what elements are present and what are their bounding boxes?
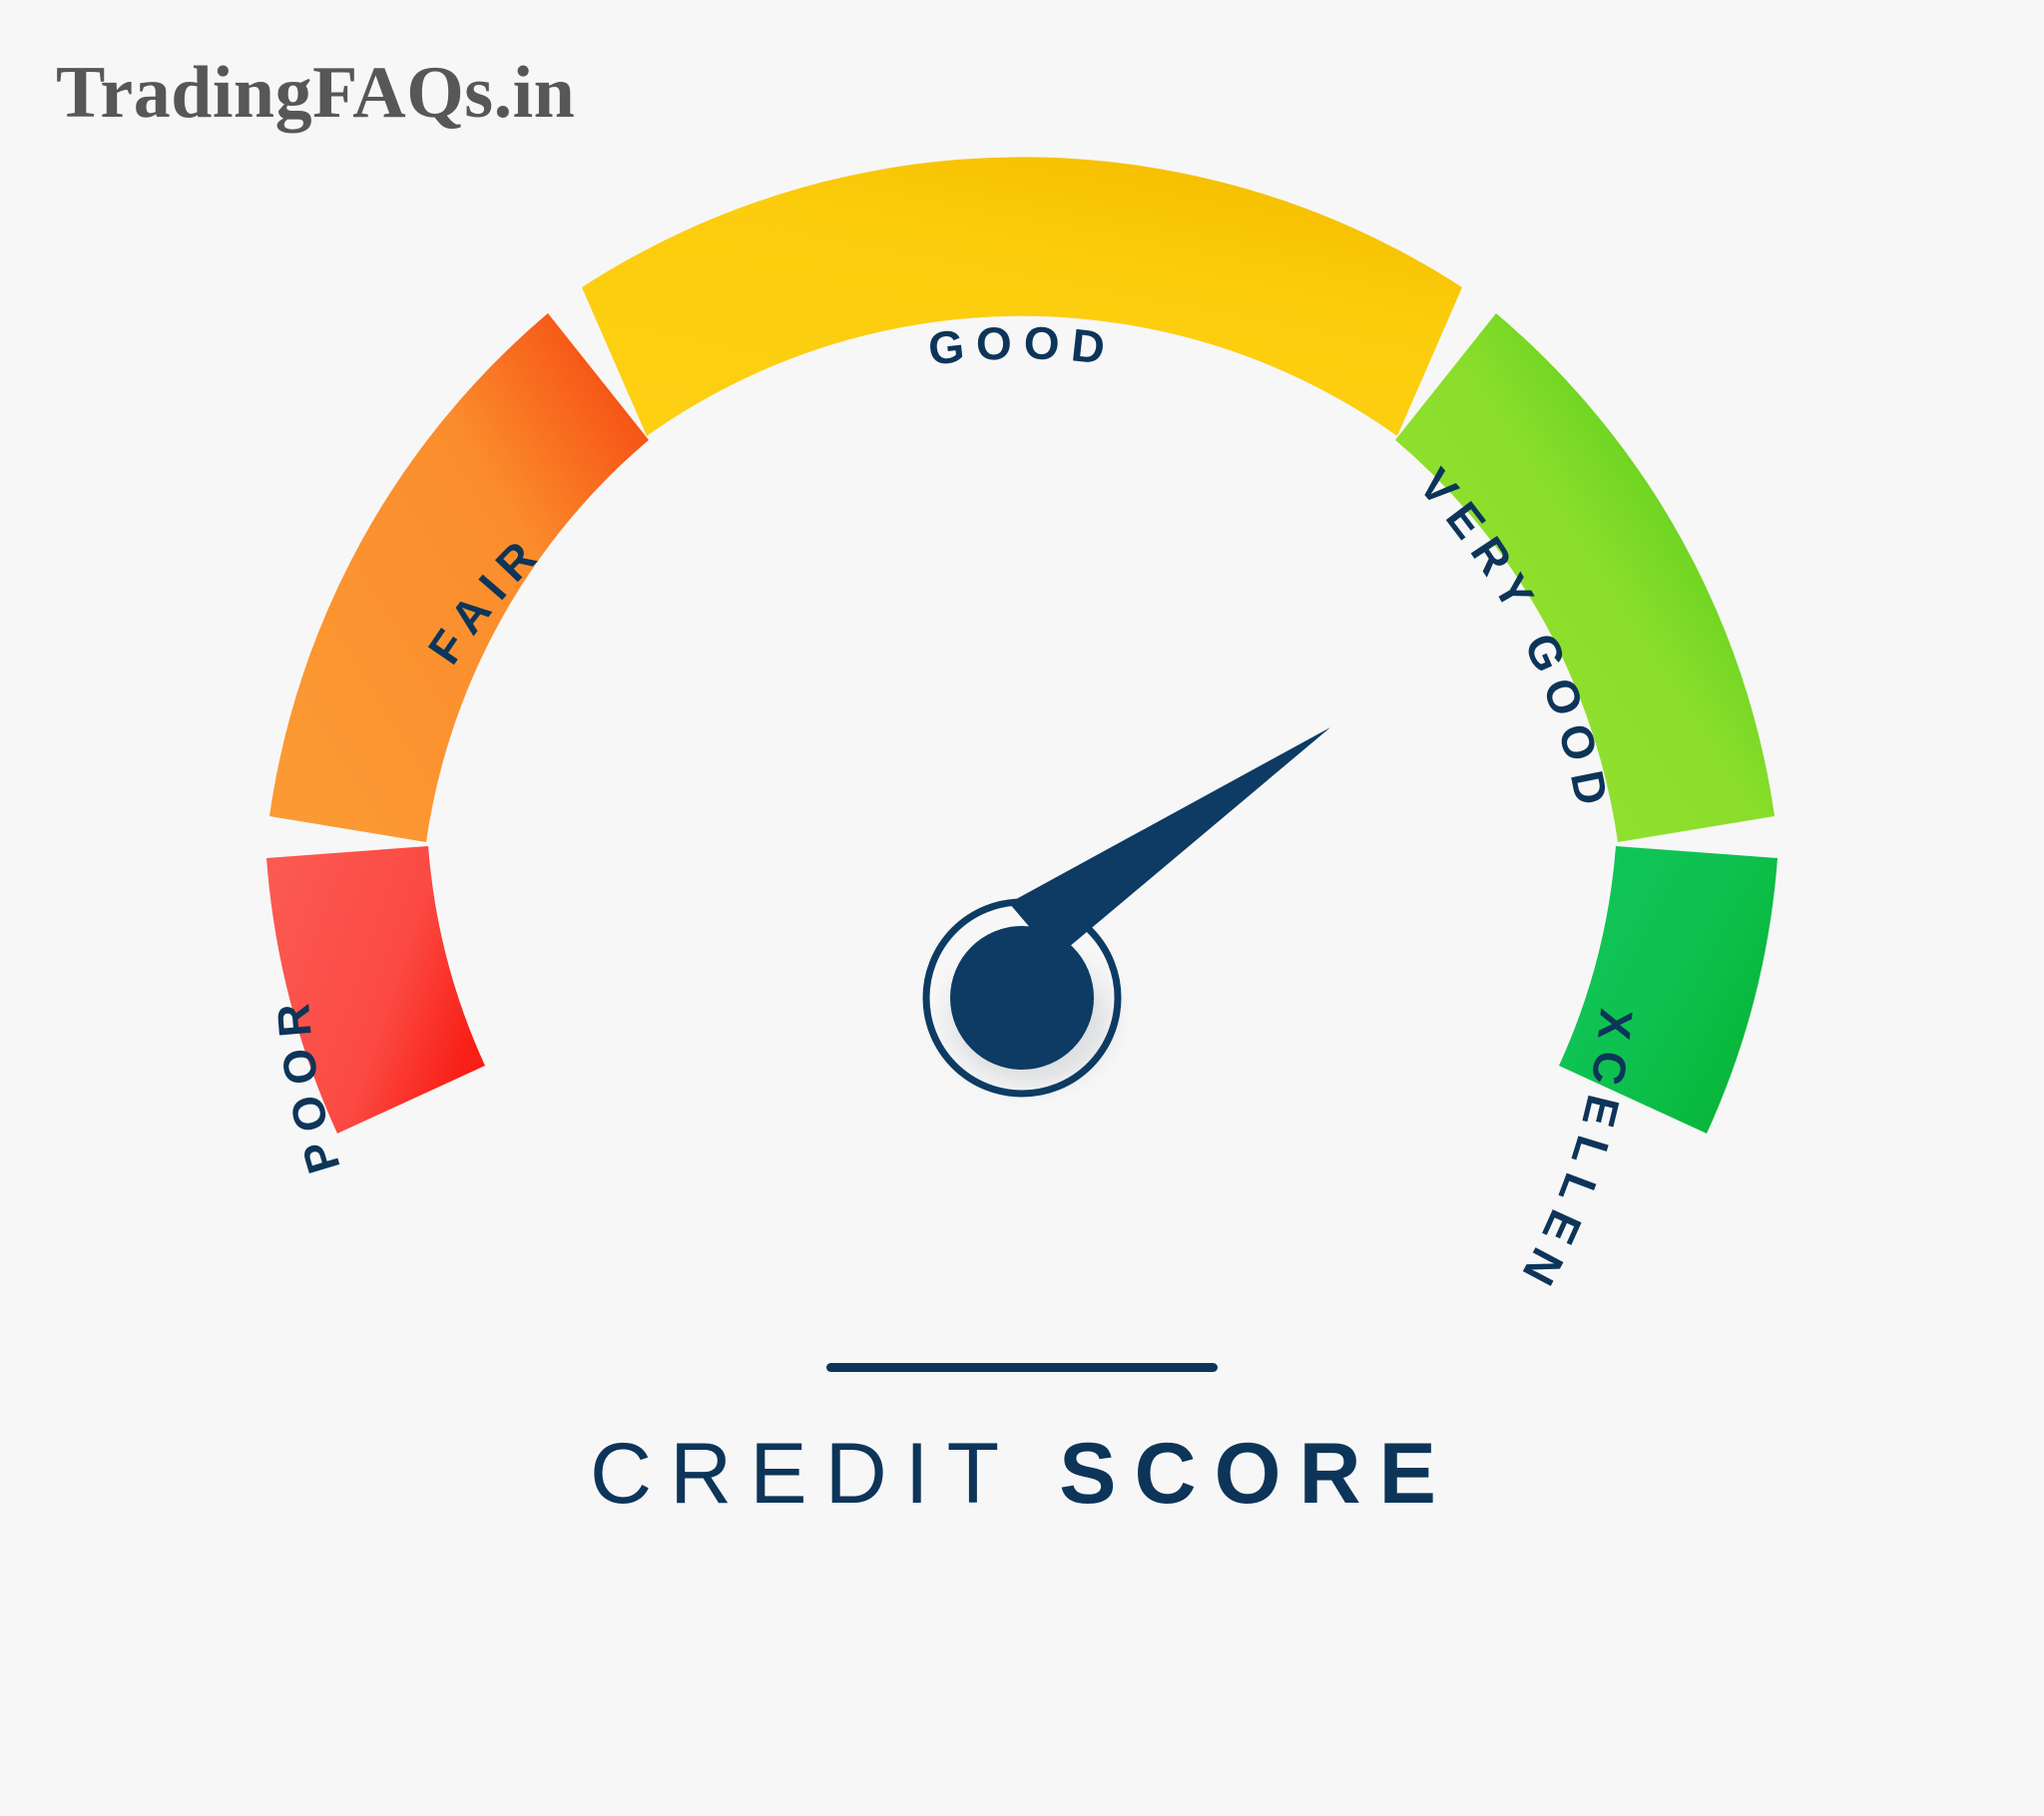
hub-center[interactable] (950, 926, 1094, 1070)
gauge-segment-very-good[interactable]: VERY GOOD (1395, 313, 1775, 842)
page-title: CREDITSCORE (0, 1429, 2044, 1519)
gauge-segment-good-label: GOOD (925, 316, 1118, 375)
page-title-credit: CREDIT (590, 1426, 1017, 1522)
title-divider (826, 1363, 1218, 1372)
gauge-svg: POOR FAIR GOOD VERY GOOD (0, 0, 2044, 1816)
gauge-needle[interactable] (1009, 727, 1330, 958)
gauge-segment-poor[interactable]: POOR (265, 846, 485, 1179)
credit-score-gauge: POOR FAIR GOOD VERY GOOD (0, 0, 2044, 1816)
gauge-segment-fair[interactable]: FAIR (269, 313, 649, 842)
page-title-score: SCORE (1059, 1426, 1454, 1522)
gauge-segment-good[interactable]: GOOD (582, 157, 1462, 436)
